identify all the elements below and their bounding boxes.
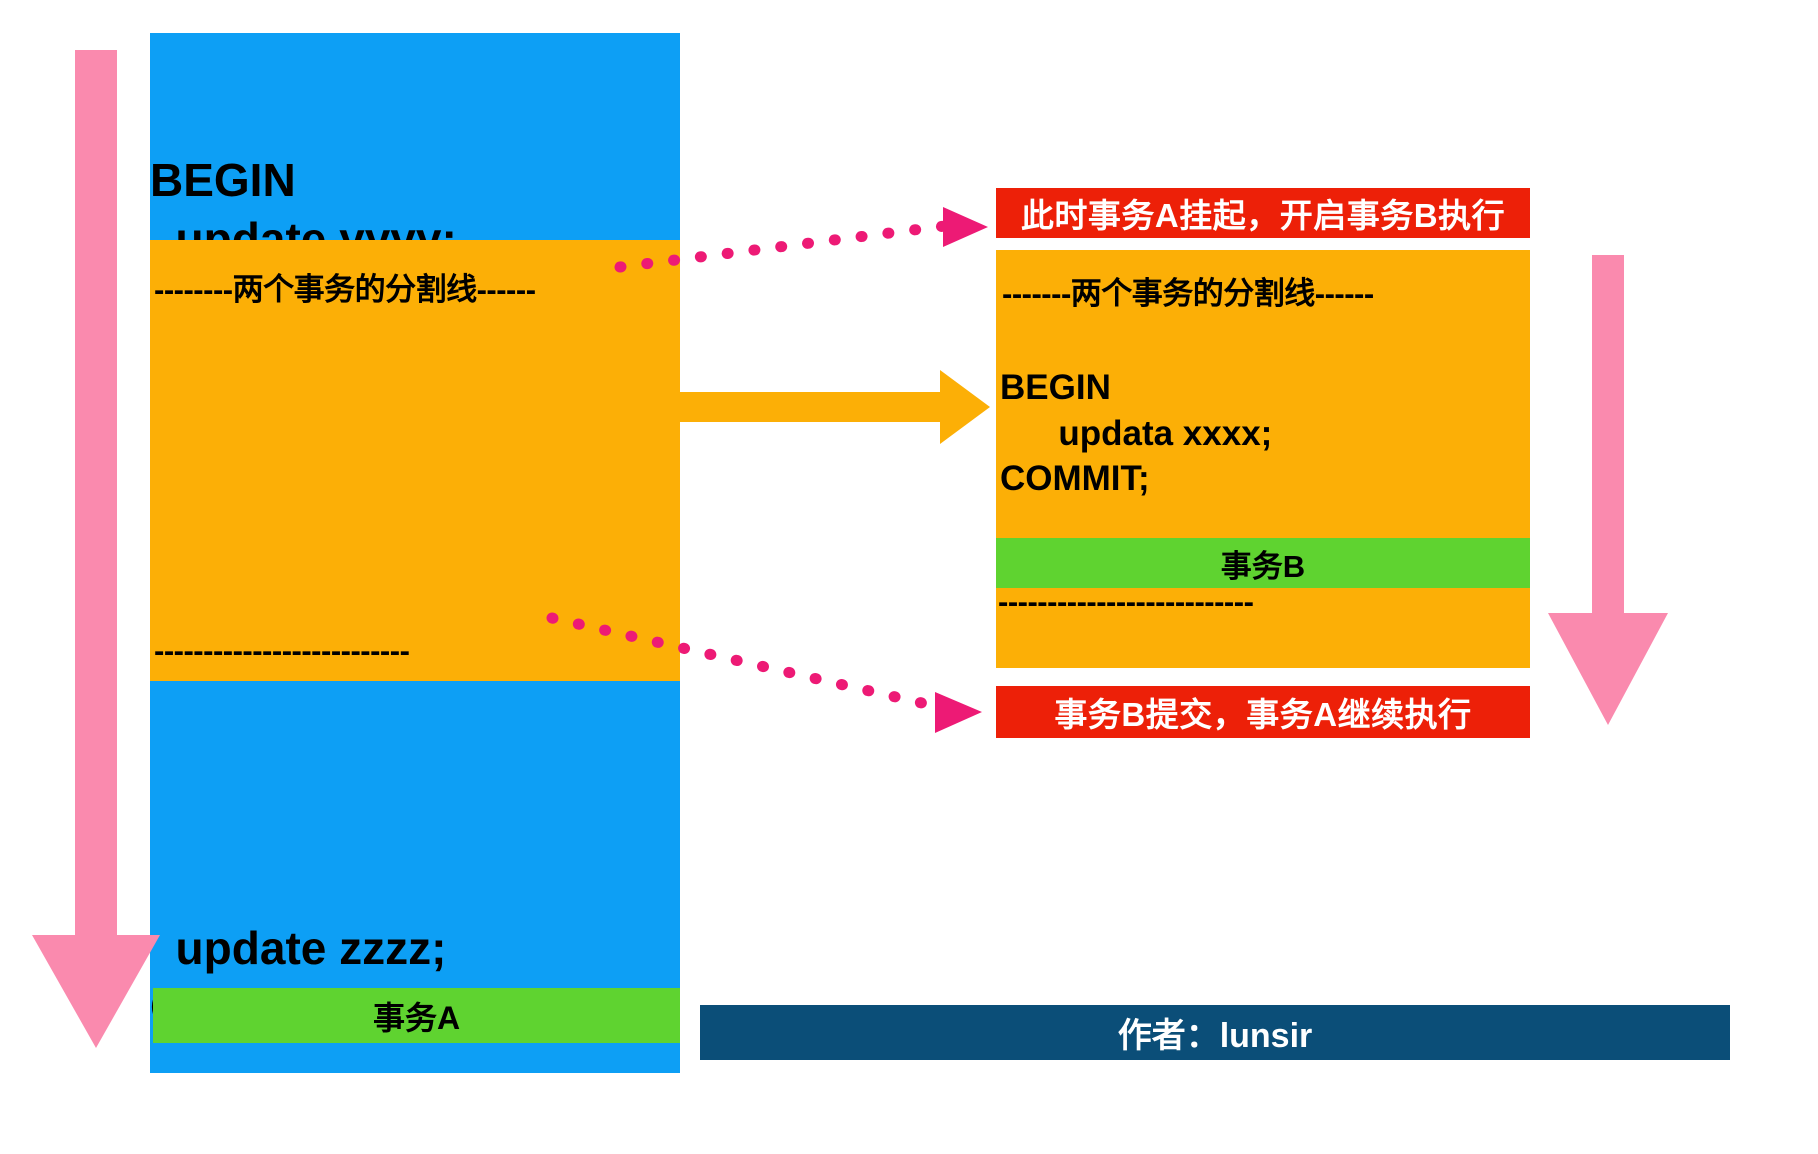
transaction-b-divider-bottom: -------------------------- <box>998 584 1253 620</box>
transaction-a-label-band: 事务A <box>153 988 680 1043</box>
diagram-canvas: BEGIN update yyyy; --------两个事务的分割线-----… <box>0 0 1818 1142</box>
transaction-a-suspended-region: --------两个事务的分割线------ -----------------… <box>150 240 680 681</box>
banner-suspend-text: 此时事务A挂起，开启事务B执行 <box>1021 189 1505 237</box>
transaction-b-divider-top: -------两个事务的分割线------ <box>1002 268 1374 313</box>
left-timeline-arrow-icon <box>32 50 160 1048</box>
transaction-a-label: 事务A <box>373 993 460 1039</box>
transaction-b-label: 事务B <box>1221 541 1305 586</box>
author-bar: 作者：lunsir <box>700 1005 1730 1060</box>
right-timeline-arrow-icon <box>1548 255 1668 725</box>
banner-transaction-b-committed: 事务B提交，事务A继续执行 <box>996 686 1530 738</box>
transaction-b-block: -------两个事务的分割线------ BEGIN updata xxxx;… <box>996 250 1530 668</box>
transaction-a-divider-bottom: -------------------------- <box>154 633 409 669</box>
transaction-a-block: BEGIN update yyyy; --------两个事务的分割线-----… <box>150 33 680 1073</box>
transaction-b-label-band: 事务B <box>996 538 1530 588</box>
transaction-a-bottom-code: update zzzz; COMMIT; <box>150 801 680 1154</box>
banner-transaction-a-suspended: 此时事务A挂起，开启事务B执行 <box>996 188 1530 238</box>
transaction-a-divider-top: --------两个事务的分割线------ <box>154 264 536 309</box>
transfer-arrow-icon <box>672 370 990 444</box>
author-label: 作者：lunsir <box>1118 1008 1313 1057</box>
transaction-b-code: BEGIN updata xxxx; COMMIT; <box>1000 365 1272 502</box>
banner-resume-text: 事务B提交，事务A继续执行 <box>1054 688 1471 736</box>
